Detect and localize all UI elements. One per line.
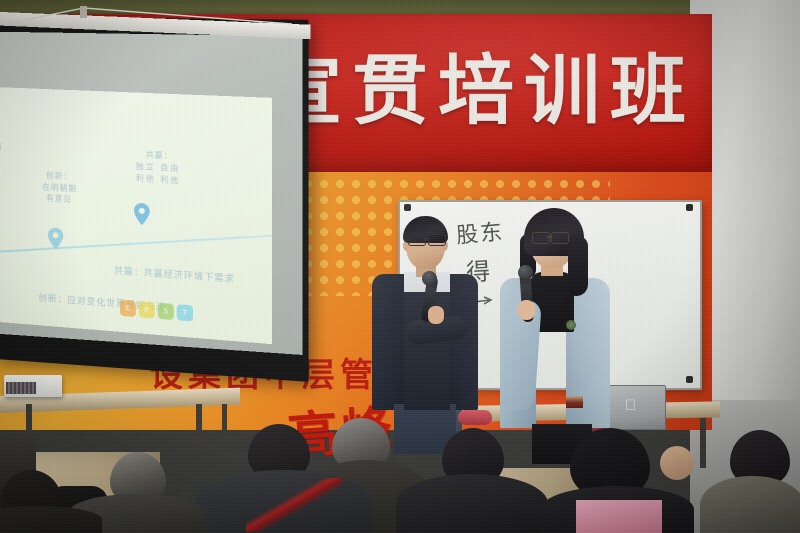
audience-member-shoulders — [396, 474, 548, 533]
apple-logo-icon:  — [624, 398, 637, 413]
slide-chip-row: E P S T — [120, 300, 193, 322]
audience-jacket-stripe — [246, 478, 342, 532]
male-hand — [428, 306, 444, 324]
glasses-icon — [408, 234, 426, 246]
female-hair-side — [568, 236, 588, 296]
slide-chip: E — [120, 300, 136, 317]
whiteboard-clip — [404, 204, 411, 211]
glasses-bridge — [547, 236, 552, 238]
audience-pink-jacket — [576, 500, 662, 533]
audience-member-head — [660, 446, 694, 480]
photo-scene: 业文化宣贯培训班 设集团中层管理人员培训班 高峰 心 主办单位 培训 一六年 共… — [0, 0, 800, 533]
whiteboard-clip — [686, 376, 693, 383]
glasses-icon — [532, 232, 550, 244]
glasses-icon — [428, 234, 446, 246]
slide-diagonal-line — [0, 232, 272, 255]
microphone-head-icon — [518, 265, 533, 280]
female-badge — [566, 396, 583, 408]
glasses-bridge — [423, 238, 429, 240]
slide-chip: T — [177, 304, 193, 321]
female-hand — [518, 300, 535, 320]
slide-caption-right: 共赢：共赢经济环境下需求 — [114, 263, 235, 285]
table-leg — [196, 404, 202, 454]
slide-line-2: 利他 利他 — [136, 173, 181, 186]
whiteboard-clip — [686, 204, 693, 211]
map-pin-icon — [134, 203, 150, 226]
slide-left-heading: 创新： — [46, 170, 72, 182]
projector-vent — [6, 382, 36, 394]
slide-edge-text: 当三人行 工作会 — [0, 141, 2, 162]
whiteboard-text-stockholder: 股东 — [455, 214, 506, 250]
slide-left-line-2: 有意见 — [46, 193, 72, 205]
slide-chip: P — [139, 301, 155, 318]
screen-hanging-wire — [14, 6, 294, 26]
slide-chip: S — [158, 303, 174, 320]
slide-line-1: 独立 自由 — [136, 161, 181, 174]
table-leg — [222, 404, 227, 444]
red-object-on-table — [458, 410, 492, 425]
glasses-icon — [551, 232, 569, 244]
table-leg — [700, 418, 706, 468]
audience-member-shoulders — [0, 506, 102, 533]
female-brooch — [566, 320, 576, 330]
slide-heading: 共赢： — [146, 149, 173, 161]
audience-member-shoulders — [700, 476, 800, 533]
presentation-slide: 共赢： 独立 自由 利他 利他 创新： 在明朝期 有意见 共赢：共赢经济环境下需… — [0, 86, 272, 344]
map-pin-icon — [48, 227, 63, 250]
